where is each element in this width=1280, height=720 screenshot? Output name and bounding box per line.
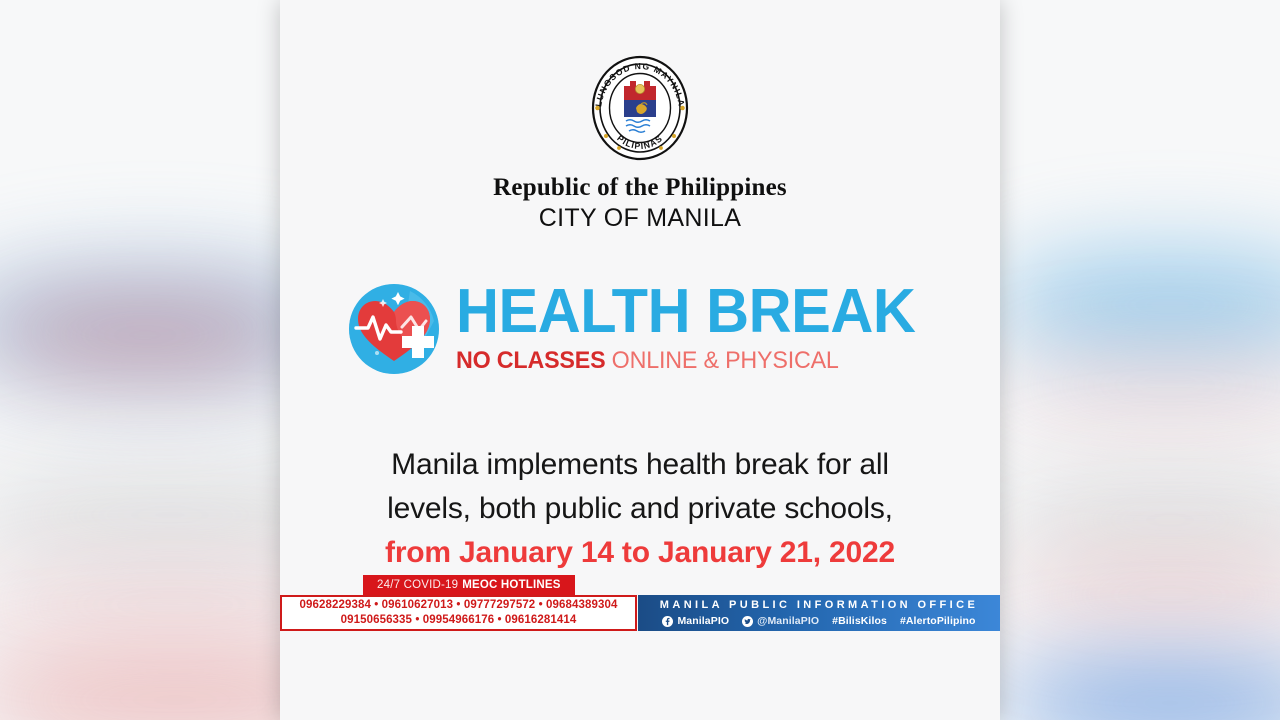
campaign-subtitle-light: ONLINE & PHYSICAL	[611, 347, 838, 374]
background-blur-blob	[1000, 560, 1280, 630]
announcement-message: Manila implements health break for all l…	[280, 443, 1000, 575]
campaign-subtitle: NO CLASSES ONLINE & PHYSICAL	[456, 348, 920, 374]
health-heart-cross-icon	[346, 281, 442, 377]
hotline-numbers-line-1: 09628229384 • 09610627013 • 09777297572 …	[300, 598, 618, 613]
poster: LUNGSOD NG MAYNILA PILIPINAS	[280, 0, 1000, 720]
background-blur-blob	[1000, 470, 1280, 570]
facebook-label: ManilaPIO	[677, 615, 729, 627]
message-line-1: Manila implements health break for all	[280, 443, 1000, 487]
background-blur-blob	[995, 668, 1280, 720]
hotline-numbers-line-2: 09150656335 • 09954966176 • 09616281414	[341, 613, 577, 628]
message-date-range: from January 14 to January 21, 2022	[280, 531, 1000, 575]
hotline-tab-light: 24/7 COVID-19	[377, 579, 458, 591]
background-blur-blob	[1000, 355, 1280, 415]
hotline-tab-bold: MEOC HOTLINES	[462, 579, 560, 591]
pio-social-row: ManilaPIO @ManilaPIO #BilisKilos #Alerto…	[662, 615, 975, 627]
twitter-label: @ManilaPIO	[757, 615, 819, 627]
manila-city-seal-icon: LUNGSOD NG MAYNILA PILIPINAS	[586, 52, 694, 164]
republic-line: Republic of the Philippines	[280, 174, 1000, 202]
hashtag-alerto-pilipino[interactable]: #AlertoPilipino	[900, 615, 976, 627]
pio-banner: MANILA PUBLIC INFORMATION OFFICE ManilaP…	[638, 595, 1000, 631]
campaign-text: HEALTH BREAK NO CLASSES ONLINE & PHYSICA…	[456, 283, 935, 374]
facebook-handle[interactable]: ManilaPIO	[662, 615, 729, 627]
twitter-icon	[742, 616, 753, 627]
hotline-tab: 24/7 COVID-19 MEOC HOTLINES	[363, 575, 575, 595]
campaign-title: HEALTH BREAK	[456, 283, 915, 342]
pio-title: MANILA PUBLIC INFORMATION OFFICE	[660, 599, 978, 611]
city-seal-container: LUNGSOD NG MAYNILA PILIPINAS	[280, 52, 1000, 164]
hashtag-bilis-kilos[interactable]: #BilisKilos	[832, 615, 887, 627]
campaign-subtitle-strong: NO CLASSES	[456, 347, 605, 374]
poster-footer: 24/7 COVID-19 MEOC HOTLINES 09628229384 …	[280, 575, 1000, 631]
facebook-icon	[662, 616, 673, 627]
hotline-numbers-box: 09628229384 • 09610627013 • 09777297572 …	[280, 595, 637, 631]
city-line: CITY OF MANILA	[280, 204, 1000, 233]
campaign-lockup: HEALTH BREAK NO CLASSES ONLINE & PHYSICA…	[280, 281, 1000, 377]
message-line-2: levels, both public and private schools,	[280, 487, 1000, 531]
twitter-handle[interactable]: @ManilaPIO	[742, 615, 819, 627]
background-blur-blob	[990, 255, 1280, 355]
